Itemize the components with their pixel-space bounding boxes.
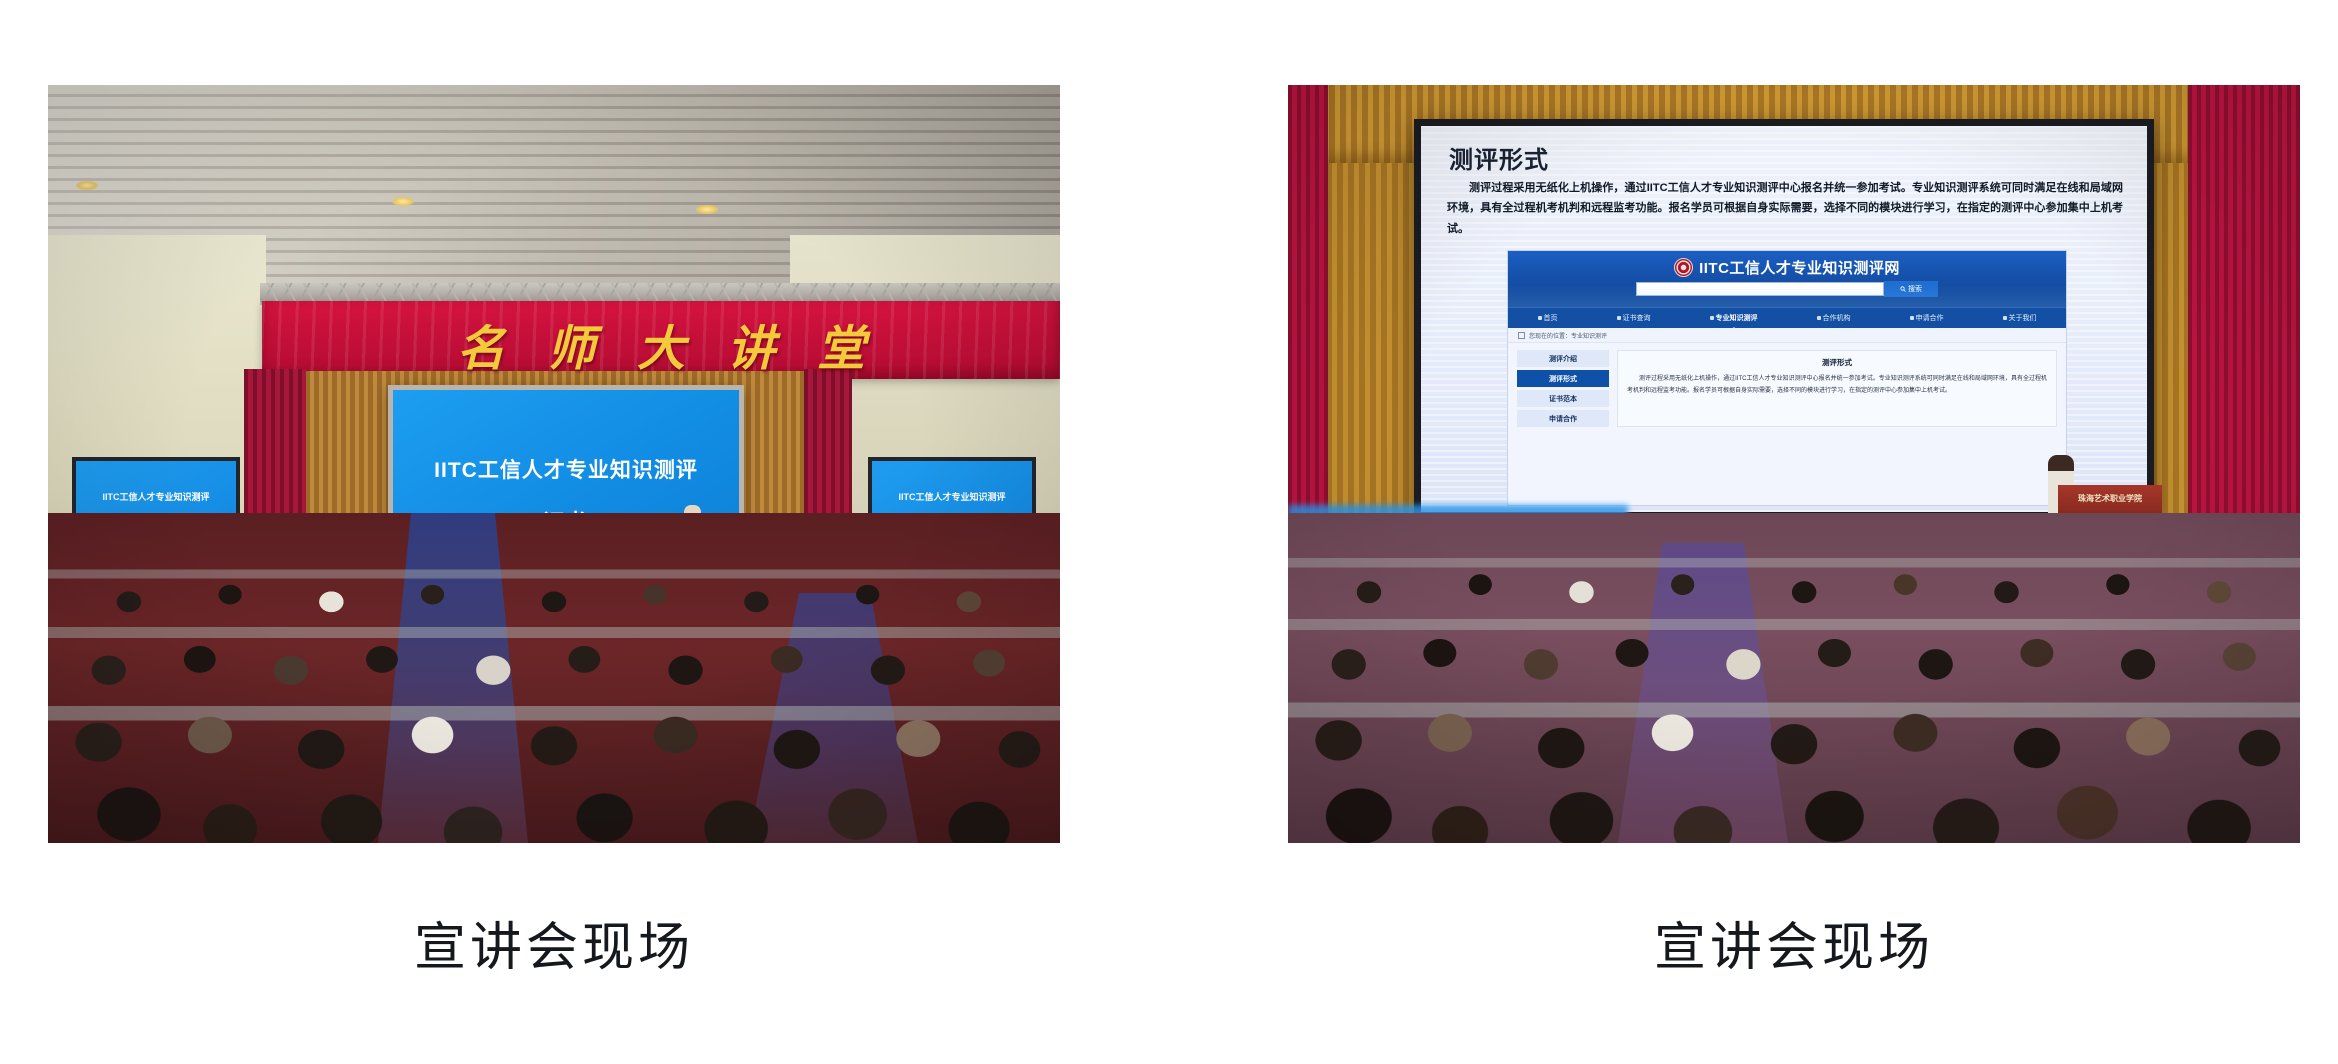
caption-left: 宣讲会现场 [48,905,1060,980]
website-content-panel: 测评形式 测评过程采用无纸化上机操作，通过IITC工信人才专业知识测评中心报名并… [1617,350,2057,427]
nav-item-partners[interactable]: 合作机构 [1817,313,1851,323]
nav-item-partners-label: 合作机构 [1823,313,1851,323]
apply-icon [1910,316,1914,320]
website-title: IITC工信人才专业知识测评网 [1699,257,1900,278]
red-banner: 名师大讲堂 [262,301,1060,379]
home-icon [1538,316,1542,320]
assessment-icon [1710,316,1714,320]
caption-right: 宣讲会现场 [1288,905,2300,980]
ceiling-light-icon [696,205,718,214]
figure-left: 名师大讲堂 IITC工信人才专业知识测评 证书 IITC工信人才专业知识测评 证… [48,85,1060,843]
sidebar-item-apply[interactable]: 申请合作 [1517,410,1609,427]
projection-screen: 测评形式 测评过程采用无纸化上机操作，通过IITC工信人才专业知识测评中心报名并… [1414,119,2154,519]
slide-title: 测评形式 [1449,140,1549,175]
breadcrumb: 您现在的位置：专业知识测评 [1508,328,2066,343]
location-icon [1518,332,1525,339]
content-body: 测评过程采用无纸化上机操作，通过IITC工信人才专业知识测评中心报名并统一参加考… [1627,373,2047,397]
nav-item-home[interactable]: 首页 [1538,313,1558,323]
about-icon [2003,316,2007,320]
website-navbar: 首页 证书查询 专业知识测评 [1508,307,2066,328]
nav-item-about-label: 关于我们 [2009,313,2037,323]
main-screen-line-1: IITC工信人才专业知识测评 [434,454,698,484]
sidebar-item-sample[interactable]: 证书范本 [1517,390,1609,407]
photo-auditorium-right: 测评形式 测评过程采用无纸化上机操作，通过IITC工信人才专业知识测评中心报名并… [1288,85,2300,843]
nav-item-assessment[interactable]: 专业知识测评 [1710,313,1758,323]
nav-item-home-label: 首页 [1544,313,1558,323]
ceiling-light-icon [76,181,98,190]
presentation-slide: 测评形式 测评过程采用无纸化上机操作，通过IITC工信人才专业知识测评中心报名并… [1421,126,2147,512]
nav-item-assessment-label: 专业知识测评 [1716,313,1758,323]
nav-item-certificate-query-label: 证书查询 [1623,313,1651,323]
content-title: 测评形式 [1627,357,2047,368]
certificate-icon [1617,316,1621,320]
figure-right: 测评形式 测评过程采用无纸化上机操作，通过IITC工信人才专业知识测评中心报名并… [1288,85,2300,843]
search-input[interactable] [1636,282,1884,296]
partners-icon [1817,316,1821,320]
search-button[interactable]: 搜索 [1884,281,1938,297]
nav-item-certificate-query[interactable]: 证书查询 [1617,313,1651,323]
search-button-label: 搜索 [1908,284,1922,294]
audience-crowd [1288,463,2300,843]
audience-crowd [48,483,1060,843]
nav-item-apply[interactable]: 申请合作 [1910,313,1944,323]
iitc-logo-icon [1674,258,1693,277]
website-search-row: 搜索 [1508,281,2066,297]
website-header: IITC工信人才专业知识测评网 搜索 [1508,251,2066,307]
banner-text: 名师大讲堂 [262,309,1060,379]
nav-item-about[interactable]: 关于我们 [2003,313,2037,323]
search-icon [1900,286,1906,292]
nav-item-apply-label: 申请合作 [1916,313,1944,323]
ceiling-light-icon [392,197,414,206]
breadcrumb-label: 您现在的位置：专业知识测评 [1529,331,1607,340]
slide-body-text: 测评过程采用无纸化上机操作，通过IITC工信人才专业知识测评中心报名并统一参加考… [1447,178,2123,239]
figure-page: 名师大讲堂 IITC工信人才专业知识测评 证书 IITC工信人才专业知识测评 证… [0,0,2338,1064]
sidebar-item-format[interactable]: 测评形式 [1517,370,1609,387]
website-brand: IITC工信人才专业知识测评网 [1508,257,2066,278]
website-sidebar: 测评介绍 测评形式 证书范本 申请合作 [1517,350,1609,427]
sidebar-item-intro[interactable]: 测评介绍 [1517,350,1609,367]
photo-auditorium-left: 名师大讲堂 IITC工信人才专业知识测评 证书 IITC工信人才专业知识测评 证… [48,85,1060,843]
website-main: 测评介绍 测评形式 证书范本 申请合作 测评形式 测评过程采用无纸化上机操作，通… [1508,343,2066,427]
